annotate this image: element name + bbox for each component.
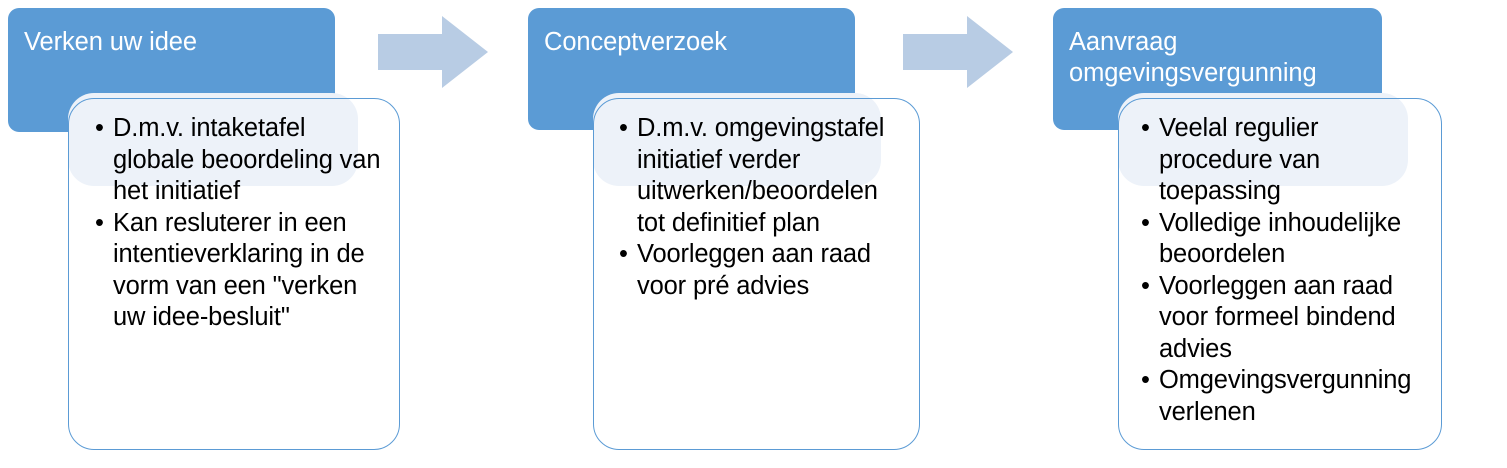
- list-item: Volledige inhoudelijke beoordelen: [1140, 208, 1430, 271]
- stage-1-bullet-list: D.m.v. intaketafel globale beoordeling v…: [94, 113, 382, 334]
- stage-1-header-label: Verken uw idee: [24, 27, 335, 58]
- list-item: Voorleggen aan raad voor formeel bindend…: [1140, 271, 1430, 366]
- process-flow-diagram: Verken uw idee D.m.v. intaketafel global…: [0, 0, 1507, 468]
- list-item: D.m.v. intaketafel globale beoordeling v…: [94, 113, 382, 208]
- arrow-right-icon: [903, 16, 1013, 88]
- stage-3-bullet-list: Veelal regulier procedure van toepassing…: [1140, 113, 1430, 428]
- list-item: Omgevingsvergunning verlenen: [1140, 365, 1430, 428]
- stage-2-bullet-list: D.m.v. omgevingstafel initiatief verder …: [618, 113, 906, 302]
- stage-3-header-label: Aanvraag omgevingsvergunning: [1069, 27, 1382, 89]
- list-item: Veelal regulier procedure van toepassing: [1140, 113, 1430, 208]
- connector-arrow-2: [903, 16, 1013, 88]
- list-item: D.m.v. omgevingstafel initiatief verder …: [618, 113, 906, 239]
- list-item: Kan resluterer in een intentieverklaring…: [94, 208, 382, 334]
- stage-2-header-label: Conceptverzoek: [544, 27, 855, 58]
- list-item: Voorleggen aan raad voor pré advies: [618, 239, 906, 302]
- arrow-right-icon: [378, 16, 488, 88]
- connector-arrow-1: [378, 16, 488, 88]
